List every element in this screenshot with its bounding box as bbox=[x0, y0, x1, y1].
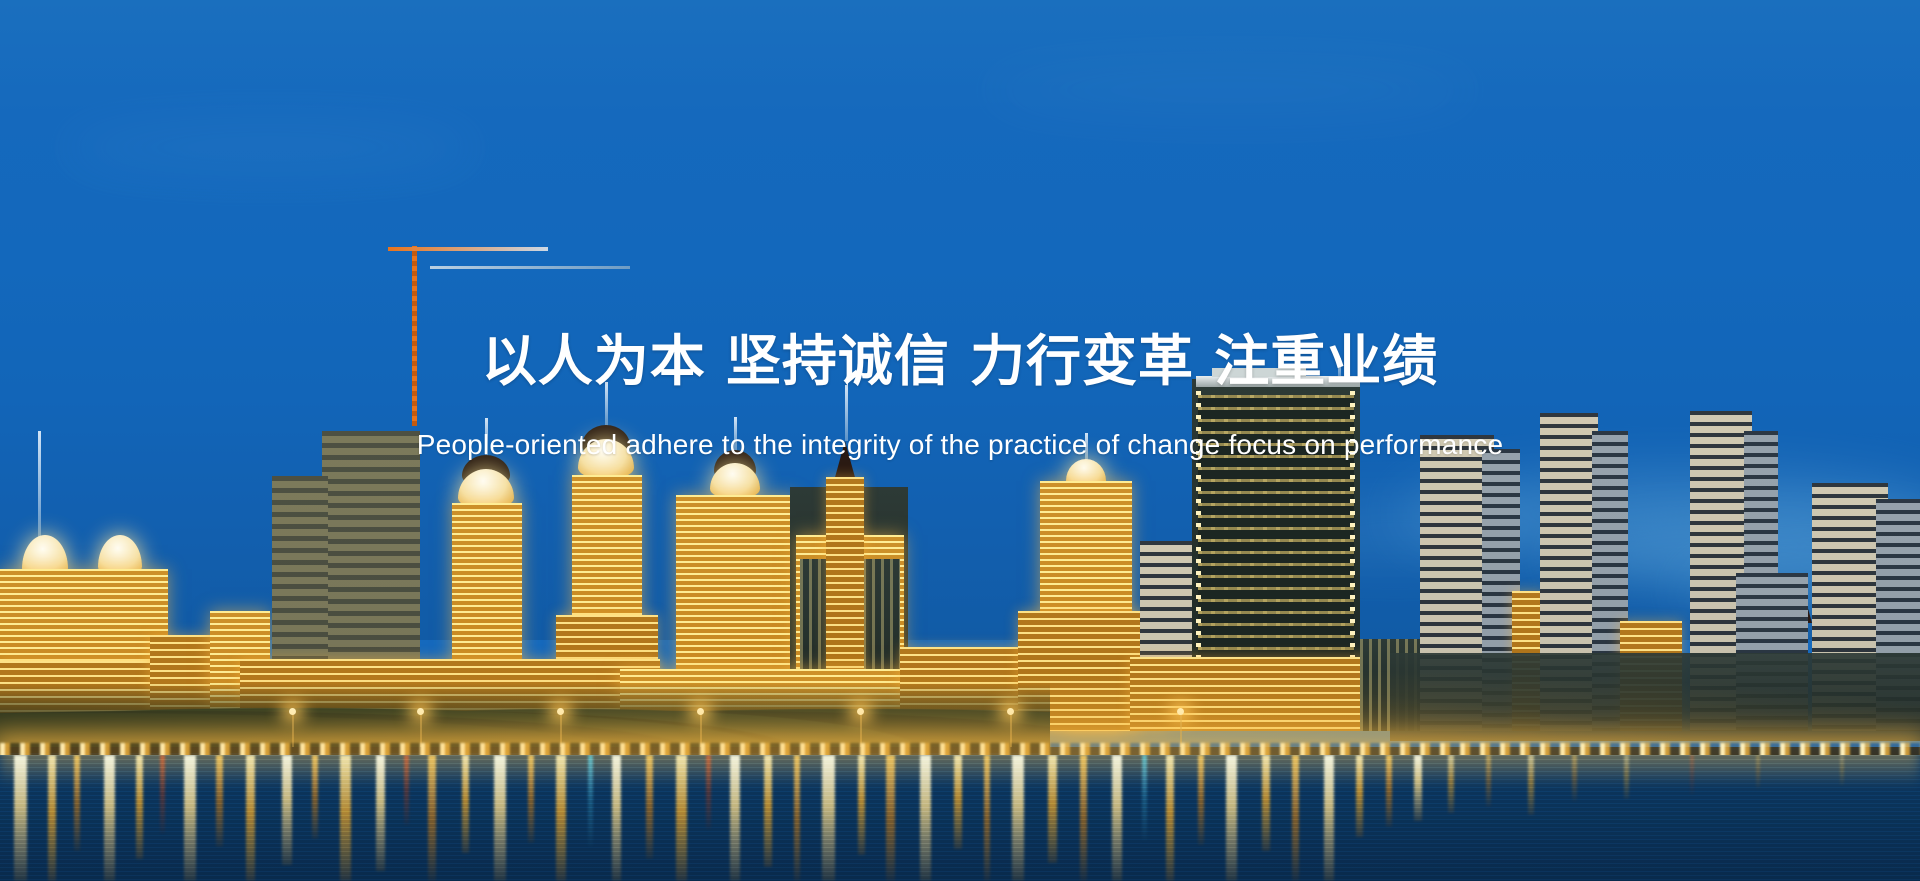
lamp-post bbox=[860, 713, 862, 747]
hero-banner: 以人为本 坚持诚信 力行变革 注重业绩 People-oriented adhe… bbox=[0, 0, 1920, 881]
antenna-spire bbox=[485, 418, 488, 456]
building-waterfront-row bbox=[1390, 653, 1920, 741]
construction-crane-jib bbox=[430, 266, 630, 269]
rooftop-unit bbox=[1212, 368, 1306, 377]
antenna-spire bbox=[38, 431, 41, 541]
rooftop-parapet bbox=[1196, 376, 1360, 387]
street-lamp bbox=[857, 708, 864, 715]
river-water bbox=[0, 755, 1920, 881]
lamp-post bbox=[700, 713, 702, 747]
spire-cone bbox=[834, 441, 856, 481]
antenna-spire bbox=[605, 382, 608, 426]
antenna-spire bbox=[845, 385, 848, 441]
water-ripple-texture bbox=[0, 755, 1920, 881]
antenna-spire bbox=[734, 417, 737, 451]
city-skyline bbox=[0, 0, 1920, 881]
construction-crane-mast bbox=[412, 246, 417, 426]
street-lamp bbox=[697, 708, 704, 715]
construction-crane-jib bbox=[388, 247, 548, 251]
lamp-post bbox=[560, 713, 562, 747]
lamp-post bbox=[292, 713, 294, 747]
street-lamp bbox=[1007, 708, 1014, 715]
street-lamp bbox=[417, 708, 424, 715]
street-lamp bbox=[557, 708, 564, 715]
antenna-spire bbox=[1338, 358, 1341, 376]
lamp-post bbox=[1180, 713, 1182, 747]
street-lamp bbox=[289, 708, 296, 715]
street-lamp bbox=[1177, 708, 1184, 715]
lamp-post bbox=[1010, 713, 1012, 747]
lamp-post bbox=[420, 713, 422, 747]
